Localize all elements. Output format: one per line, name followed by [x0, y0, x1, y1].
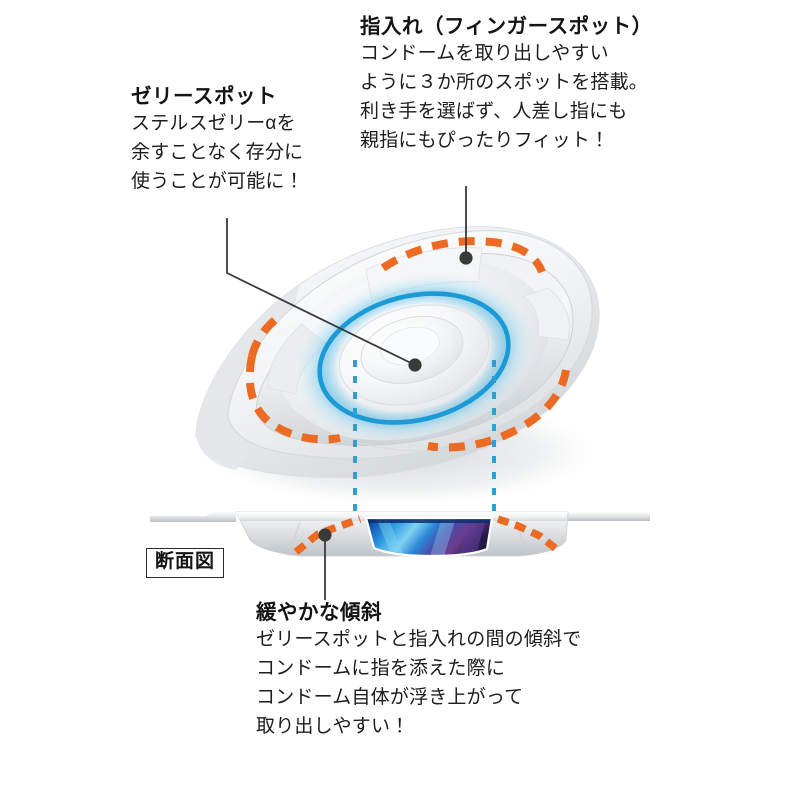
- leader-line-jelly-spot: [227, 218, 413, 364]
- tray-left-facet: [196, 284, 300, 470]
- callout-jelly-spot-line-3: 使うことが可能に！: [131, 168, 304, 197]
- orange-dash-right-arc: [428, 370, 566, 447]
- section-basin-outline: [366, 518, 492, 556]
- callout-finger-spot-title: 指入れ（フィンガースポット）: [360, 14, 653, 40]
- section-right-flange: [568, 512, 650, 521]
- section-seam-right: [516, 522, 528, 556]
- callout-finger-spot-line-3: 利き手を選ばず、人差し指にも: [360, 98, 653, 127]
- jelly-ring-glow: [276, 249, 552, 467]
- callout-gentle-slope-line-2: コンドームに指を添えた際に: [256, 655, 581, 684]
- callout-gentle-slope-line-3: コンドーム自体が浮き上がって: [256, 684, 581, 713]
- tray-outer-rim: [228, 231, 592, 459]
- callout-finger-spot-line-4: 親指にもぴったりフィット！: [360, 127, 653, 156]
- tray-outer-body: [196, 227, 599, 478]
- orange-dash-section-left: [296, 519, 360, 552]
- callout-jelly-spot-line-1: ステルスゼリーαを: [131, 110, 304, 139]
- finger-spot-notch-top: [366, 248, 482, 302]
- callout-jelly-spot-title: ゼリースポット: [131, 84, 304, 110]
- leader-dot-jelly-spot: [408, 358, 421, 371]
- callout-gentle-slope: 緩やかな傾斜 ゼリースポットと指入れの間の傾斜で コンドームに指を添えた際に コ…: [256, 600, 581, 742]
- leader-dot-gentle-slope: [318, 528, 331, 541]
- section-top-surface: [236, 512, 568, 521]
- tray-ground-shadow: [185, 394, 615, 510]
- callout-gentle-slope-title: 緩やかな傾斜: [256, 600, 581, 626]
- orange-dash-left-arc: [250, 356, 340, 439]
- callout-jelly-spot: ゼリースポット ステルスゼリーαを 余すことなく存分に 使うことが可能に！: [131, 84, 304, 197]
- leader-dot-finger-spot: [459, 251, 472, 264]
- diagram-canvas: ゼリースポット ステルスゼリーαを 余すことなく存分に 使うことが可能に！ 指入…: [0, 0, 800, 800]
- orange-dash-left-arc-upper: [252, 316, 280, 356]
- callout-gentle-slope-line-1: ゼリースポットと指入れの間の傾斜で: [256, 626, 581, 655]
- orange-dash-section-right: [498, 519, 560, 552]
- finger-spot-notch-right: [524, 288, 569, 340]
- section-left-flange: [150, 512, 236, 522]
- tray-bowl-floor: [258, 231, 569, 469]
- jelly-terrace-mid: [329, 290, 500, 420]
- section-basin-streaks: [366, 518, 492, 556]
- section-seam-left: [288, 522, 300, 556]
- section-view-label: 断面図: [146, 548, 224, 578]
- jelly-ring-outer: [306, 275, 522, 442]
- callout-jelly-spot-line-2: 余すことなく存分に: [131, 139, 304, 168]
- orange-dash-upper-arc: [383, 241, 542, 272]
- tray-inner-wall: [256, 254, 573, 446]
- callout-finger-spot: 指入れ（フィンガースポット） コンドームを取り出しやすい ように３か所のスポット…: [360, 14, 653, 156]
- section-body: [236, 512, 568, 556]
- jelly-terrace-inner: [354, 306, 470, 393]
- callout-gentle-slope-line-4: 取り出しやすい！: [256, 713, 581, 742]
- section-basin: [366, 518, 492, 556]
- jelly-spot-center: [377, 321, 444, 370]
- bowl-crease: [300, 414, 466, 451]
- finger-spot-notch-left: [268, 324, 326, 394]
- callout-finger-spot-line-1: コンドームを取り出しやすい: [360, 40, 653, 69]
- callout-finger-spot-line-2: ように３か所のスポットを搭載。: [360, 69, 653, 98]
